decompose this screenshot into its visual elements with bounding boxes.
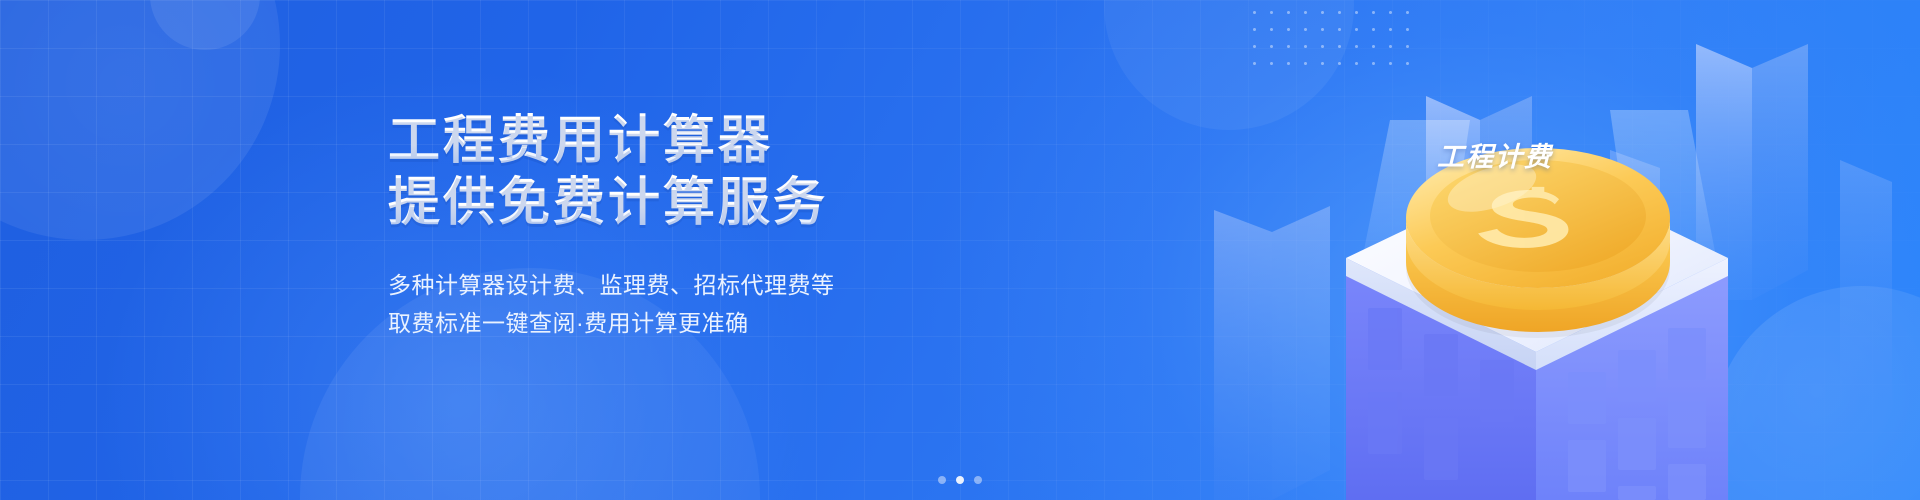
dot-matrix-decoration <box>1246 4 1422 66</box>
promo-banner[interactable]: 工程费用计算器 提供免费计算服务 多种计算器设计费、监理费、招标代理费等 取费标… <box>0 0 1920 500</box>
isometric-building-icon <box>1140 0 1920 500</box>
headline-line-2: 提供免费计算服务 <box>388 174 1028 232</box>
carousel-dot-1[interactable] <box>938 476 946 484</box>
carousel-indicators[interactable] <box>938 476 982 484</box>
platform <box>1346 166 1728 370</box>
dollar-coin-icon <box>1406 148 1670 338</box>
decorative-circle-4 <box>1712 286 1920 500</box>
subtitle-line-1: 多种计算器设计费、监理费、招标代理费等 <box>388 266 1028 304</box>
illustration-badge: 工程计费 <box>1437 135 1553 174</box>
decorative-circle-2 <box>150 0 260 50</box>
decorative-circle-1 <box>0 0 280 240</box>
banner-copy: 工程费用计算器 提供免费计算服务 多种计算器设计费、监理费、招标代理费等 取费标… <box>388 112 1028 342</box>
decorative-circle-5 <box>1104 0 1354 130</box>
light-beams <box>1350 110 1728 320</box>
main-building <box>1346 258 1728 500</box>
banner-illustration: 工程计费 <box>1140 0 1920 500</box>
background-glow <box>922 0 1920 500</box>
carousel-dot-3[interactable] <box>974 476 982 484</box>
headline-line-1: 工程费用计算器 <box>388 112 1028 170</box>
subtitle-line-2: 取费标准一键查阅·费用计算更准确 <box>388 304 1028 342</box>
background-towers <box>1214 44 1892 500</box>
carousel-dot-2[interactable] <box>956 476 964 484</box>
